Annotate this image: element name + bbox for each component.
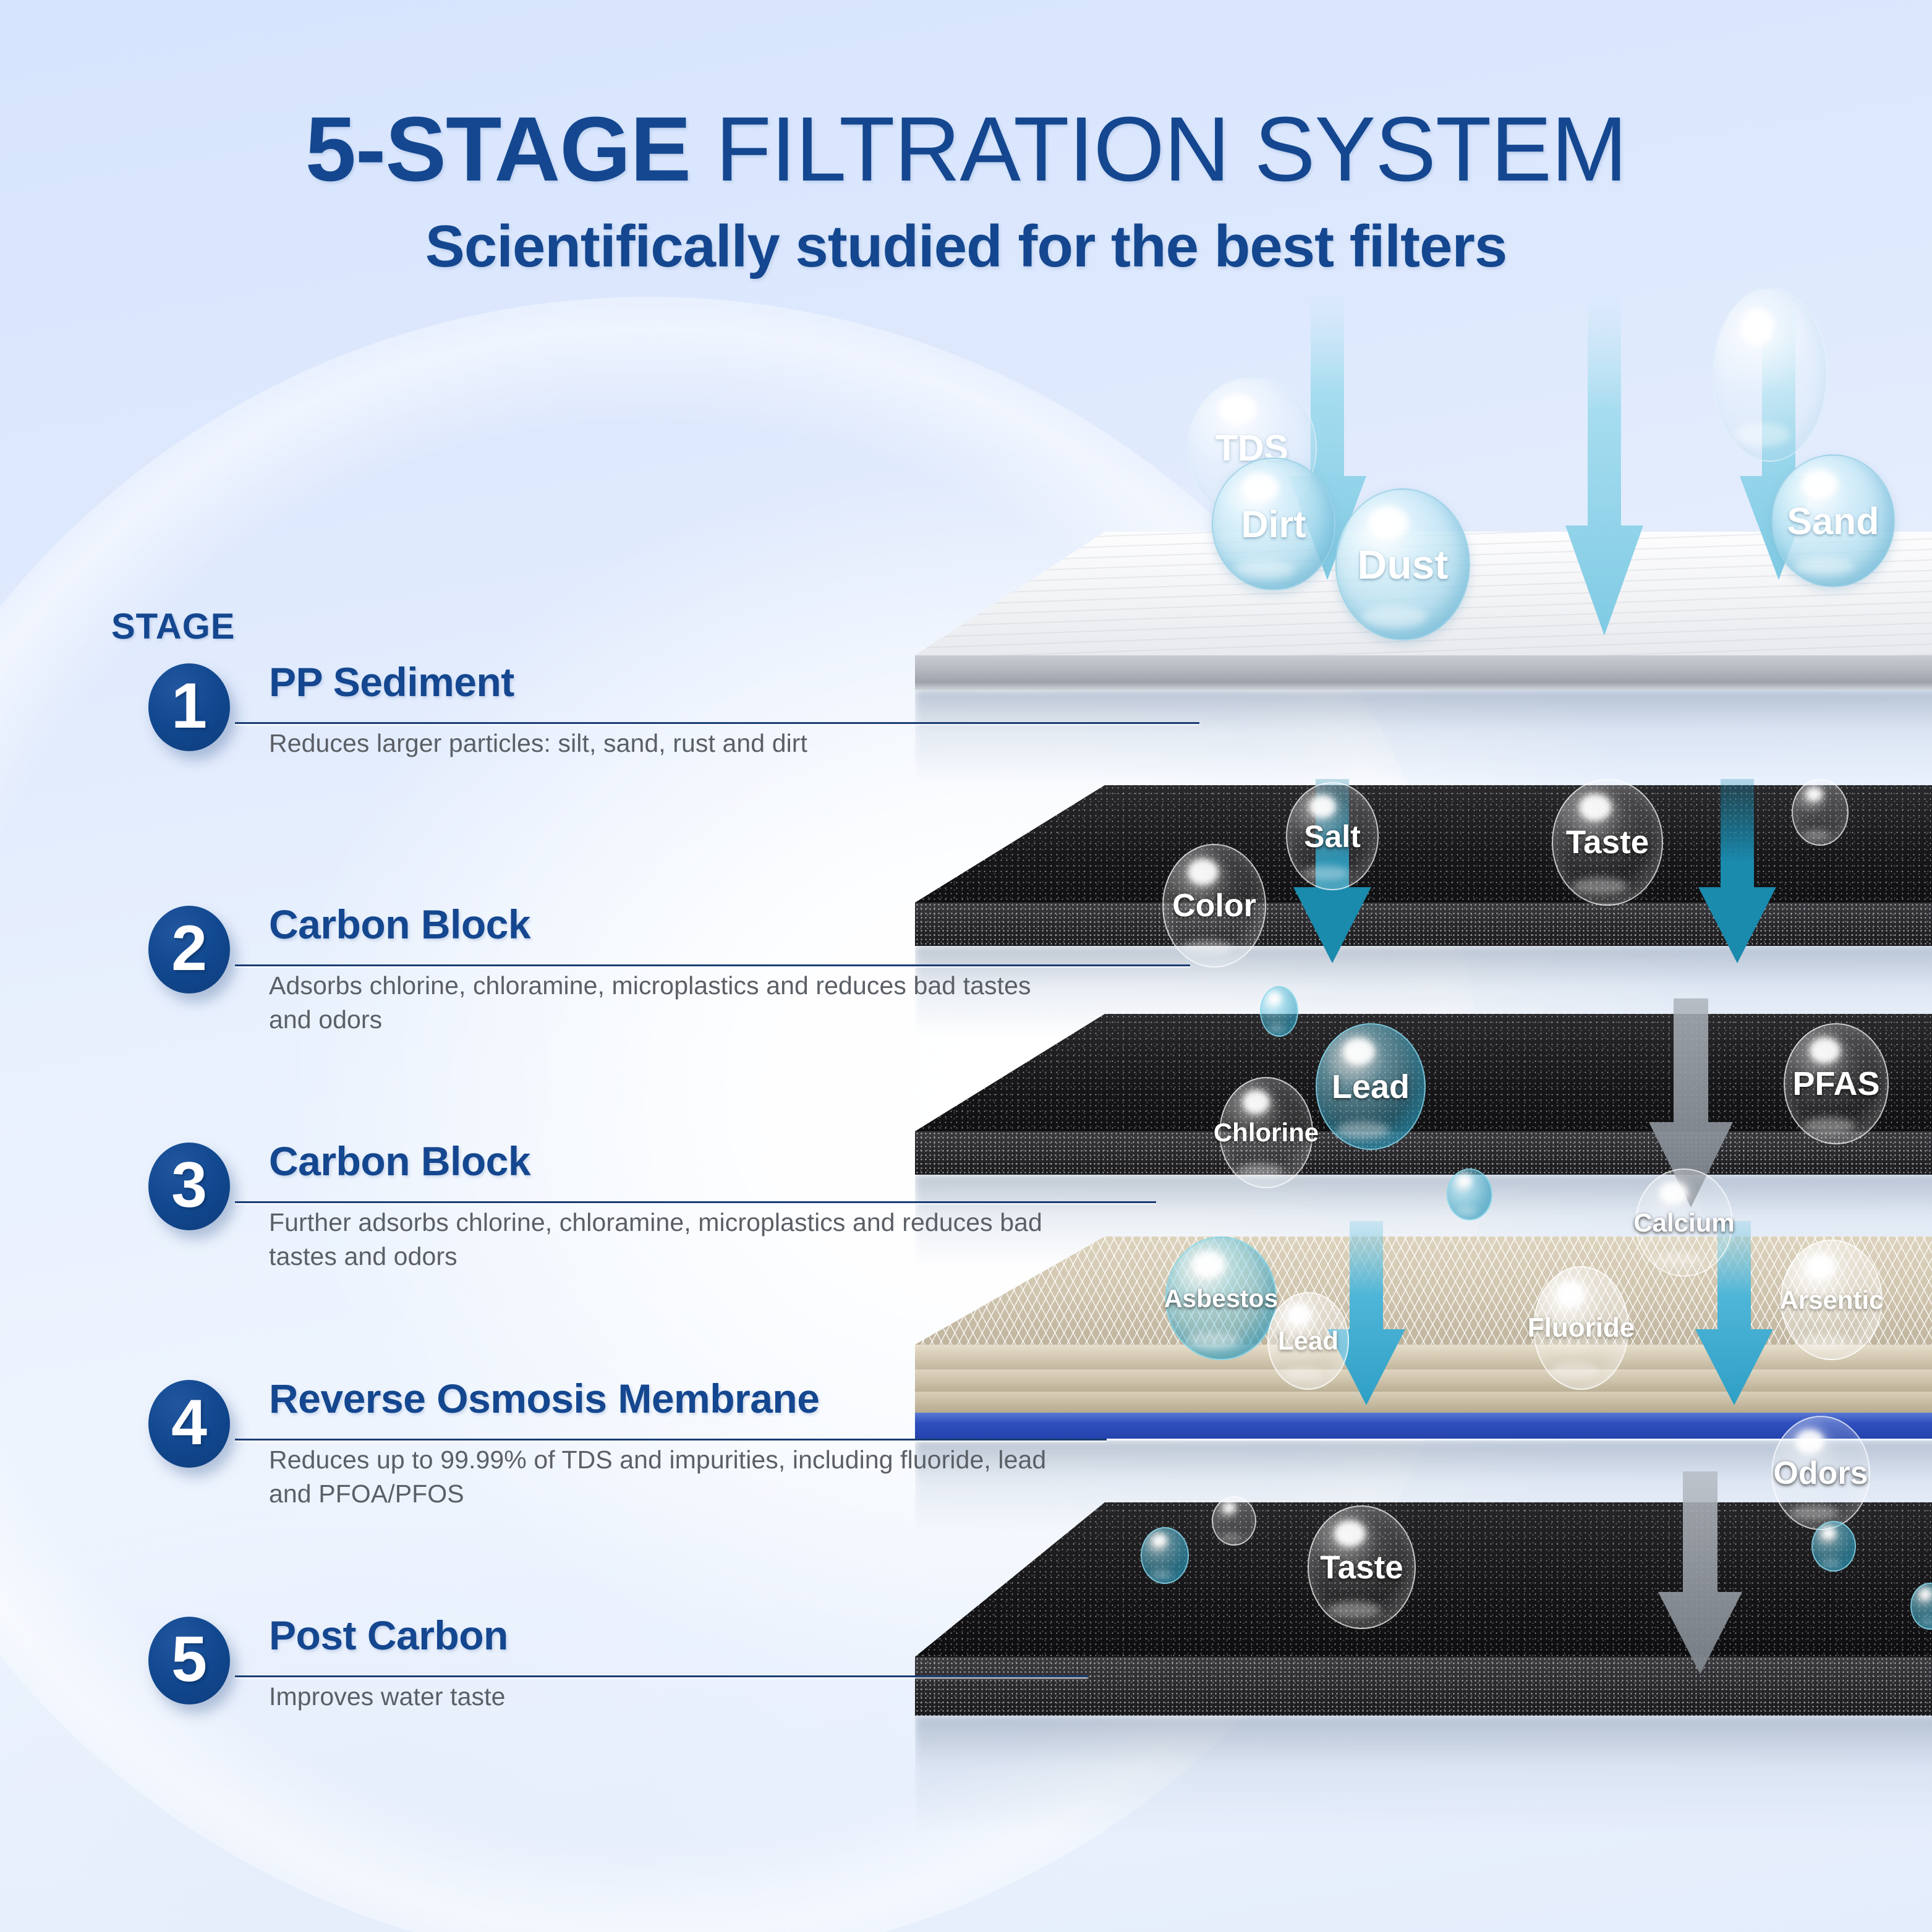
stage-body-3: Carbon Block Further adsorbs chlorine, c… [269, 1138, 1048, 1273]
bubble-lead-ro: Lead [1267, 1292, 1349, 1390]
bubble-label: Chlorine [1214, 1118, 1319, 1147]
stage-number-badge-3: 3 [148, 1143, 230, 1230]
page-subtitle: Scientifically studied for the best filt… [0, 213, 1932, 281]
stage-description-2: Adsorbs chlorine, chloramine, microplast… [269, 969, 1048, 1036]
stage-number-5: 5 [171, 1627, 207, 1692]
stage-number-badge-4: 4 [148, 1380, 230, 1468]
stage-connector-line-3 [235, 1201, 1156, 1203]
stage-title-5: Post Carbon [269, 1612, 1048, 1659]
bubble-lead-carbon: Lead [1316, 1023, 1426, 1150]
bubble-label: Calcium [1633, 1208, 1734, 1238]
stage-heading-label: STAGE [111, 606, 236, 647]
pp-sediment-drop-shadow [915, 690, 1932, 783]
bubble-fluoride: Fluoride [1533, 1266, 1629, 1390]
stage-body-1: PP Sediment Reduces larger particles: si… [269, 658, 1048, 760]
bubble-label: Lead [1278, 1326, 1338, 1356]
stage-number-1: 1 [171, 674, 207, 738]
flow-arrow-gray-2 [1651, 1471, 1750, 1675]
bubble-label: Arsentic [1779, 1285, 1883, 1315]
stage-description-4: Reduces up to 99.99% of TDS and impuriti… [269, 1443, 1048, 1510]
stage-connector-line-5 [235, 1675, 1088, 1677]
flow-arrow-cyan-2 [1558, 291, 1651, 637]
carbon-block-3-front-edge [915, 1131, 1932, 1175]
stage-connector-line-4 [235, 1439, 1107, 1440]
bubble-blank-5 [1212, 1496, 1256, 1546]
bubble-blank-1 [1713, 287, 1828, 462]
bubble-label: Odors [1773, 1455, 1868, 1492]
stage-number-badge-5: 5 [148, 1617, 230, 1704]
bubble-blank-2 [1792, 779, 1849, 846]
title-light-part: FILTRATION SYSTEM [691, 98, 1627, 200]
bubble-label: Asbestos [1164, 1284, 1279, 1313]
infographic-canvas: 5-STAGE FILTRATION SYSTEM Scientifically… [0, 0, 1932, 1932]
stage-description-1: Reduces larger particles: silt, sand, ru… [269, 726, 1048, 760]
bubble-label: Sand [1787, 500, 1879, 543]
bubble-taste-upper: Taste [1552, 779, 1663, 906]
stage-title-2: Carbon Block [269, 901, 1048, 948]
bubble-sand: Sand [1771, 454, 1895, 587]
bubble-dirt: Dirt [1212, 457, 1335, 590]
bubble-arsentic: Arsentic [1781, 1240, 1883, 1360]
flow-arrow-teal-2 [1691, 779, 1784, 964]
bubble-label: Dust [1358, 541, 1449, 588]
post-carbon-drop-shadow [915, 1716, 1932, 1833]
bubble-calcium: Calcium [1635, 1168, 1733, 1277]
bubble-color: Color [1162, 844, 1266, 968]
stage-title-1: PP Sediment [269, 658, 1048, 705]
bubble-label: Taste [1566, 823, 1649, 861]
stage-description-3: Further adsorbs chlorine, chloramine, mi… [269, 1206, 1048, 1273]
header: 5-STAGE FILTRATION SYSTEM Scientifically… [0, 104, 1932, 281]
ro-membrane-blue-backing [915, 1413, 1932, 1439]
stage-number-4: 4 [171, 1390, 207, 1455]
post-carbon-front-edge [915, 1657, 1932, 1716]
stage-connector-line-2 [235, 964, 1190, 966]
bubble-label: Fluoride [1528, 1313, 1635, 1343]
bubble-label: Dirt [1241, 503, 1306, 546]
bubble-blank-7 [1811, 1521, 1856, 1572]
stage-number-badge-2: 2 [148, 906, 230, 994]
bubble-label: Color [1172, 887, 1256, 924]
stage-number-2: 2 [171, 916, 207, 981]
bubble-taste-lower: Taste [1308, 1505, 1416, 1629]
page-title: 5-STAGE FILTRATION SYSTEM [0, 104, 1932, 195]
bubble-blank-3 [1260, 986, 1298, 1037]
bubble-asbestos: Asbestos [1165, 1236, 1277, 1360]
stage-body-2: Carbon Block Adsorbs chlorine, chloramin… [269, 901, 1048, 1036]
bubble-blank-6 [1141, 1527, 1189, 1584]
stage-description-5: Improves water taste [269, 1680, 1048, 1714]
stage-body-5: Post Carbon Improves water taste [269, 1612, 1048, 1714]
stage-title-3: Carbon Block [269, 1138, 1048, 1185]
bubble-label: PFAS [1792, 1065, 1879, 1103]
stage-connector-line-1 [235, 722, 1199, 724]
filter-stack-illustration: TDS Dirt Dust Sand Color Salt Taste Chlo… [915, 532, 1932, 1867]
stage-title-4: Reverse Osmosis Membrane [269, 1375, 1048, 1422]
bubble-dust: Dust [1335, 488, 1470, 640]
bubble-blank-4 [1447, 1168, 1492, 1220]
stage-body-4: Reverse Osmosis Membrane Reduces up to 9… [269, 1375, 1048, 1510]
bubble-label: Lead [1332, 1068, 1410, 1106]
bubble-label: Salt [1304, 819, 1361, 854]
bubble-chlorine: Chlorine [1219, 1077, 1313, 1188]
stage-number-badge-1: 1 [148, 663, 230, 751]
pp-sediment-front-edge [915, 655, 1932, 690]
bubble-pfas: PFAS [1784, 1023, 1889, 1144]
bubble-label: Taste [1320, 1549, 1403, 1586]
title-bold-part: 5-STAGE [305, 98, 691, 200]
bubble-odors: Odors [1771, 1416, 1870, 1530]
stage-number-3: 3 [171, 1153, 207, 1217]
bubble-salt: Salt [1286, 782, 1379, 890]
